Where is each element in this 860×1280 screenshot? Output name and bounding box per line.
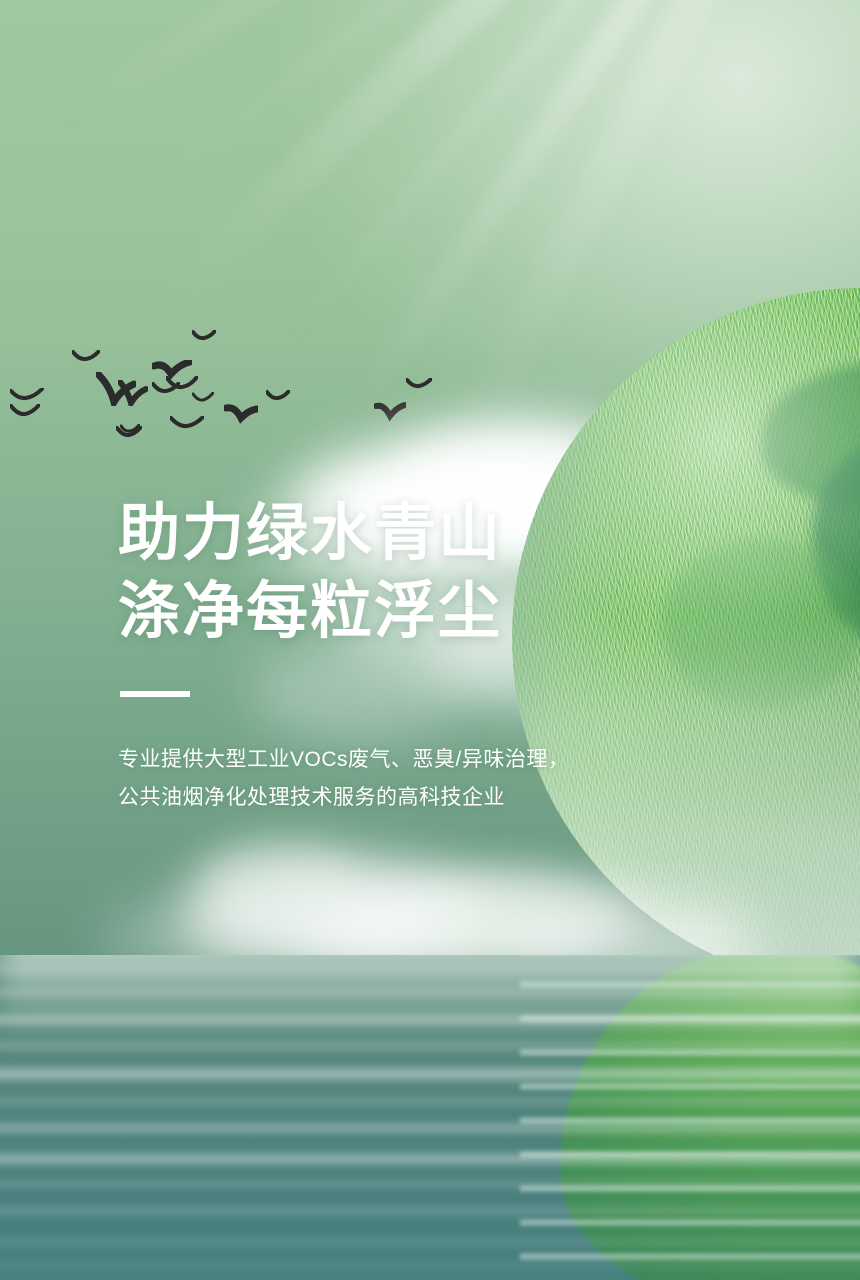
flying-birds-flock [0, 330, 470, 460]
headline-line-1: 助力绿水青山 [118, 495, 738, 573]
bird-icon [120, 424, 140, 436]
copy-block: 助力绿水青山 涤净每粒浮尘 专业提供大型工业VOCs废气、恶臭/异味治理， 公共… [118, 495, 738, 817]
water-ripple [0, 1261, 860, 1269]
eco-marketing-poster: 助力绿水青山 涤净每粒浮尘 专业提供大型工业VOCs废气、恶臭/异味治理， 公共… [0, 0, 860, 1280]
water-ripple [0, 1121, 860, 1135]
subtitle-line-1: 专业提供大型工业VOCs废气、恶臭/异味治理， [118, 741, 738, 779]
bird-icon [406, 378, 432, 392]
headline-line-2: 涤净每粒浮尘 [118, 573, 738, 651]
bird-icon [152, 382, 180, 398]
bird-icon [152, 360, 192, 384]
sun-ray [152, 0, 860, 191]
subtitle-line-2: 公共油烟净化处理技术服务的高科技企业 [118, 779, 738, 817]
bird-icon [118, 380, 148, 406]
water-ripple [0, 1237, 860, 1247]
bird-icon [266, 390, 290, 404]
bird-icon [374, 402, 406, 424]
bird-icon [192, 330, 216, 344]
sun-ray [160, 0, 860, 309]
bird-icon [224, 404, 258, 426]
bird-icon [170, 416, 204, 432]
sun-ray [279, 0, 860, 351]
bird-icon [72, 350, 100, 366]
water-ripple [0, 1097, 860, 1106]
bird-icon [192, 392, 214, 406]
water-mist [0, 955, 860, 1045]
water-ripple [0, 1065, 860, 1083]
bird-icon [10, 404, 40, 420]
headline-divider [120, 691, 190, 697]
water-surface [0, 955, 860, 1280]
water-ripple [0, 1151, 860, 1167]
water-ripple [0, 1205, 860, 1217]
water-ripple [0, 1179, 860, 1189]
